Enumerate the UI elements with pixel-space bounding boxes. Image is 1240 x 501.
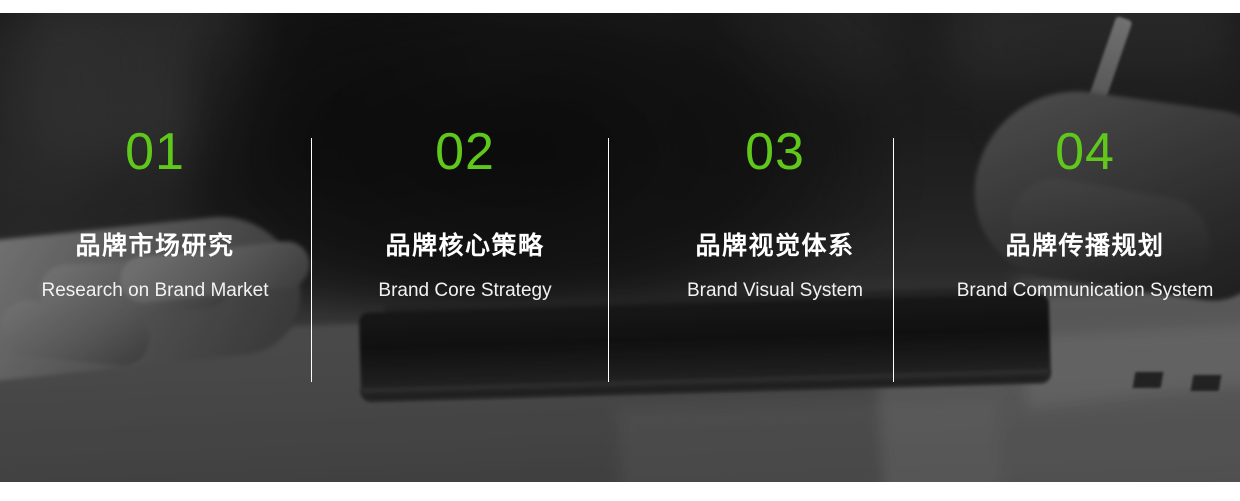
step-title: 品牌视觉体系 (620, 234, 930, 259)
step-subtitle: Brand Core Strategy (310, 281, 620, 300)
step-subtitle: Research on Brand Market (0, 281, 310, 300)
step-title: 品牌市场研究 (0, 234, 310, 259)
step-subtitle: Brand Communication System (930, 281, 1240, 300)
step-subtitle: Brand Visual System (620, 281, 930, 300)
step-title: 品牌传播规划 (930, 234, 1240, 259)
process-step-04: 04 品牌传播规划 Brand Communication System (930, 13, 1240, 482)
step-title: 品牌核心策略 (310, 234, 620, 259)
brand-process-banner: 01 品牌市场研究 Research on Brand Market 02 品牌… (0, 0, 1240, 501)
step-number: 03 (620, 126, 930, 178)
step-divider-2 (608, 138, 609, 382)
step-divider-3 (893, 138, 894, 382)
process-step-01: 01 品牌市场研究 Research on Brand Market (0, 13, 310, 482)
process-step-02: 02 品牌核心策略 Brand Core Strategy (310, 13, 620, 482)
process-step-03: 03 品牌视觉体系 Brand Visual System (620, 13, 930, 482)
step-number: 01 (0, 126, 310, 178)
process-step-list: 01 品牌市场研究 Research on Brand Market 02 品牌… (0, 13, 1240, 482)
step-divider-1 (311, 138, 312, 382)
step-number: 04 (930, 126, 1240, 178)
step-number: 02 (310, 126, 620, 178)
